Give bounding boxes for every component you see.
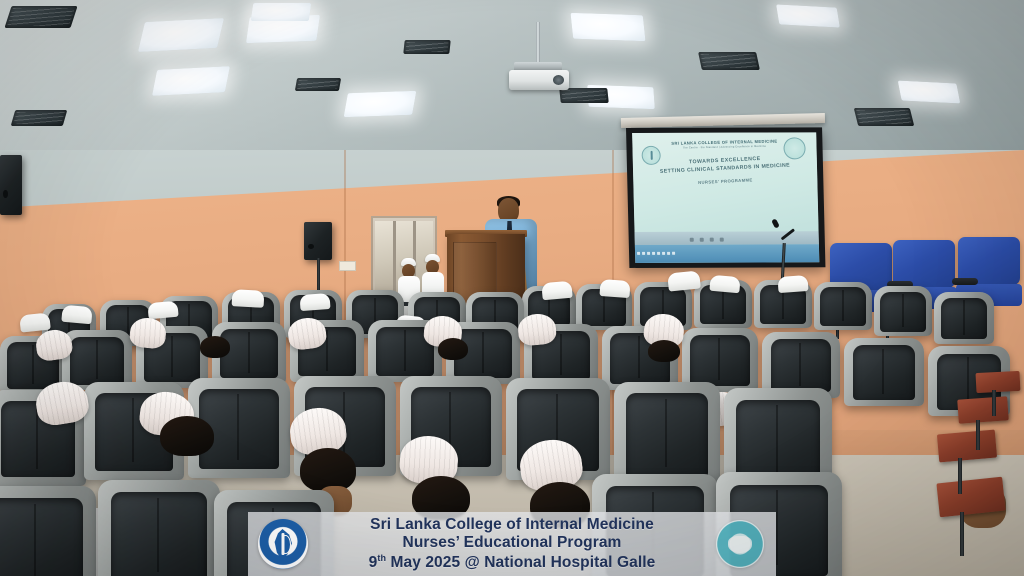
desktop-icons [690,238,724,242]
auditorium-seat[interactable] [814,282,872,330]
taskbar-icon[interactable] [672,252,675,255]
light-switch-plate[interactable] [339,261,356,271]
banner-line-2: Nurses’ Educational Program [369,534,656,553]
projector-mount-pole [536,22,540,64]
slcim-logo-icon [258,519,308,569]
stand-speaker-center [304,222,332,260]
ac-diffuser [854,108,914,126]
auditorium-seat[interactable] [98,480,220,576]
audience-hair [438,338,468,360]
taskbar-icon[interactable] [657,252,660,255]
asclepius-snake-icon [280,535,291,554]
slide-title-line-3: NURSES' PROGRAMME [633,174,817,188]
nurse-cap [777,275,808,293]
windows-taskbar[interactable] [635,244,819,263]
wall-speaker-left [0,155,22,215]
auditorium-seat[interactable] [934,292,994,344]
nurse-cap [299,293,330,311]
nurse-cap [61,305,92,325]
seat-writing-tablet[interactable] [936,477,1005,518]
auditorium-seat[interactable] [0,486,96,576]
banner-date-rest: May 2025 @ National Hospital Galle [386,554,655,571]
seat-tablet-arm [976,420,980,450]
event-banner: Sri Lanka College of Internal Medicine N… [248,512,776,576]
ceiling-light-panel [344,91,417,117]
taskbar-icon[interactable] [667,252,670,255]
audience-hair [648,340,680,362]
taskbar-icon[interactable] [642,252,645,255]
audience-hair [160,416,214,456]
banner-line-3: 9th May 2025 @ National Hospital Galle [369,553,656,573]
taskbar-icon[interactable] [662,252,665,255]
desktop-background-strip [635,231,819,245]
banner-text-block: Sri Lanka College of Internal Medicine N… [369,516,656,573]
nurse-cap [599,279,630,298]
ac-diffuser [295,78,341,91]
ceiling-light-panel [152,66,230,96]
nurse-cap [709,275,740,294]
taskbar-icon[interactable] [637,252,640,255]
seat-tablet-arm [958,458,962,494]
ceiling-light-panel [898,80,961,103]
auditorium-seat[interactable] [614,382,720,486]
chair-armrest [952,278,978,285]
ac-diffuser [11,110,68,126]
nurse-cap [19,312,51,332]
auditorium-seat[interactable] [844,338,924,406]
ceiling-light-panel [776,4,840,27]
audience-hair [200,336,230,358]
ac-diffuser [4,6,77,28]
projection-screen-surface: SRI LANKA COLLEGE OF INTERNAL MEDICINE T… [632,132,819,263]
taskbar-icon[interactable] [647,252,650,255]
presentation-slide: SRI LANKA COLLEGE OF INTERNAL MEDICINE T… [632,132,818,231]
auditorium-seat[interactable] [874,286,932,336]
seat-tablet-arm [992,390,996,416]
seat-writing-tablet[interactable] [957,396,1009,423]
nurse-cap [147,301,178,320]
banner-line-1: Sri Lanka College of Internal Medicine [369,516,656,535]
ceiling-light-panel [570,13,645,41]
auditorium-seat[interactable] [62,330,132,390]
nurse-cap [541,281,572,301]
taskbar-icon[interactable] [652,252,655,255]
ac-diffuser [559,88,609,103]
ac-diffuser [403,40,450,54]
ceiling-light-panel [138,18,224,52]
ceiling-projector [509,70,569,90]
seat-tablet-arm [960,512,964,556]
national-hospital-galle-logo-icon [716,520,764,568]
photo-canvas: SRI LANKA COLLEGE OF INTERNAL MEDICINE T… [0,0,1024,576]
nurse-cap [232,289,265,308]
projection-screen: SRI LANKA COLLEGE OF INTERNAL MEDICINE T… [626,127,825,268]
banner-date-ordinal: th [377,553,386,563]
caring-hands-icon [728,536,751,552]
ac-diffuser [698,52,760,70]
seat-writing-tablet[interactable] [976,371,1021,393]
seat-writing-tablet[interactable] [937,430,997,463]
nurse-cap [667,270,701,291]
ceiling-light-panel [251,3,312,21]
